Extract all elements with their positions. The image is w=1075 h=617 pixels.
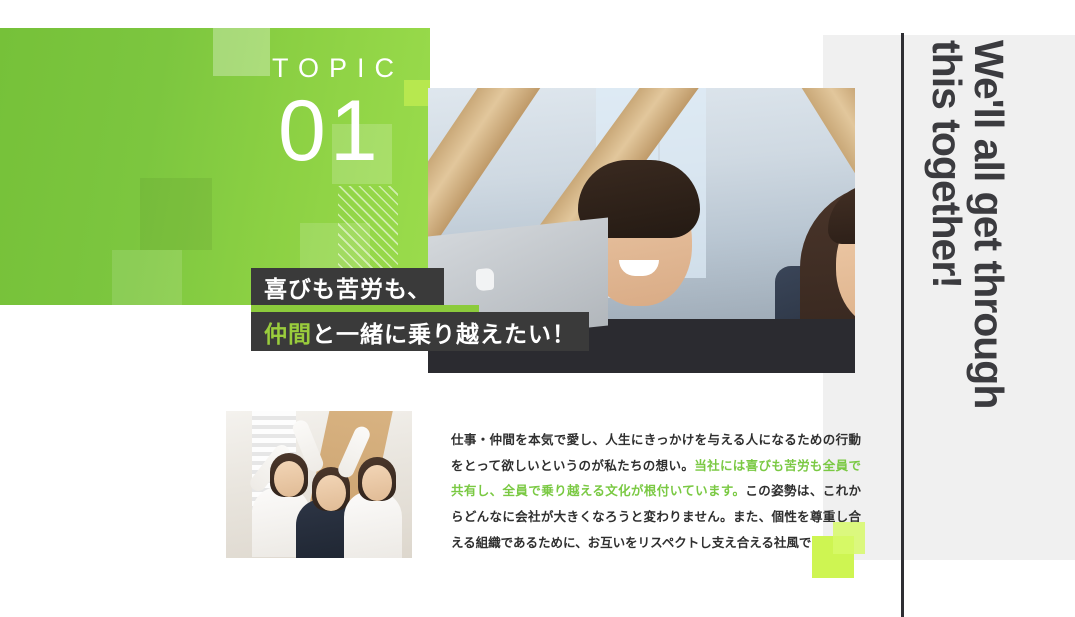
person-face-left [274,461,304,497]
person-face-center [316,475,346,511]
topic-label: TOPIC [272,55,404,82]
headline-badge-line1: 喜びも苦労も、 [251,268,444,305]
green-square-accent-a [213,28,270,76]
smile [619,260,659,276]
lime-square-accent-top [404,80,430,106]
vertical-english-headline: We'll all get through this together! [913,40,1023,560]
headline-line2-highlight: 仲間 [264,315,312,349]
slide-canvas: TOPIC 01 喜びも苦労も、 [0,0,1075,617]
person-face-right [362,465,392,501]
lime-square-accent-bottom-overlap [833,522,865,554]
sub-photo [226,411,412,558]
headline-green-separator-bar [251,305,479,312]
vertical-line-2: this together! [926,40,968,560]
person-body-right [344,491,402,558]
vertical-divider-rule [901,33,904,617]
green-square-accent-e [112,250,182,305]
vertical-line-1: We'll all get through [968,40,1010,560]
topic-number: 01 [278,88,382,174]
headline-line2-rest: と一緒に乗り越えたい！ [312,315,576,349]
body-paragraph: 仕事・仲間を本気で愛し、人生にきっかけを与える人になるための行動をとって欲しいと… [451,427,861,555]
headline-badge-line2: 仲間と一緒に乗り越えたい！ [251,312,589,351]
green-square-accent-c [140,178,212,250]
headline-line1-text: 喜びも苦労も、 [264,270,431,304]
